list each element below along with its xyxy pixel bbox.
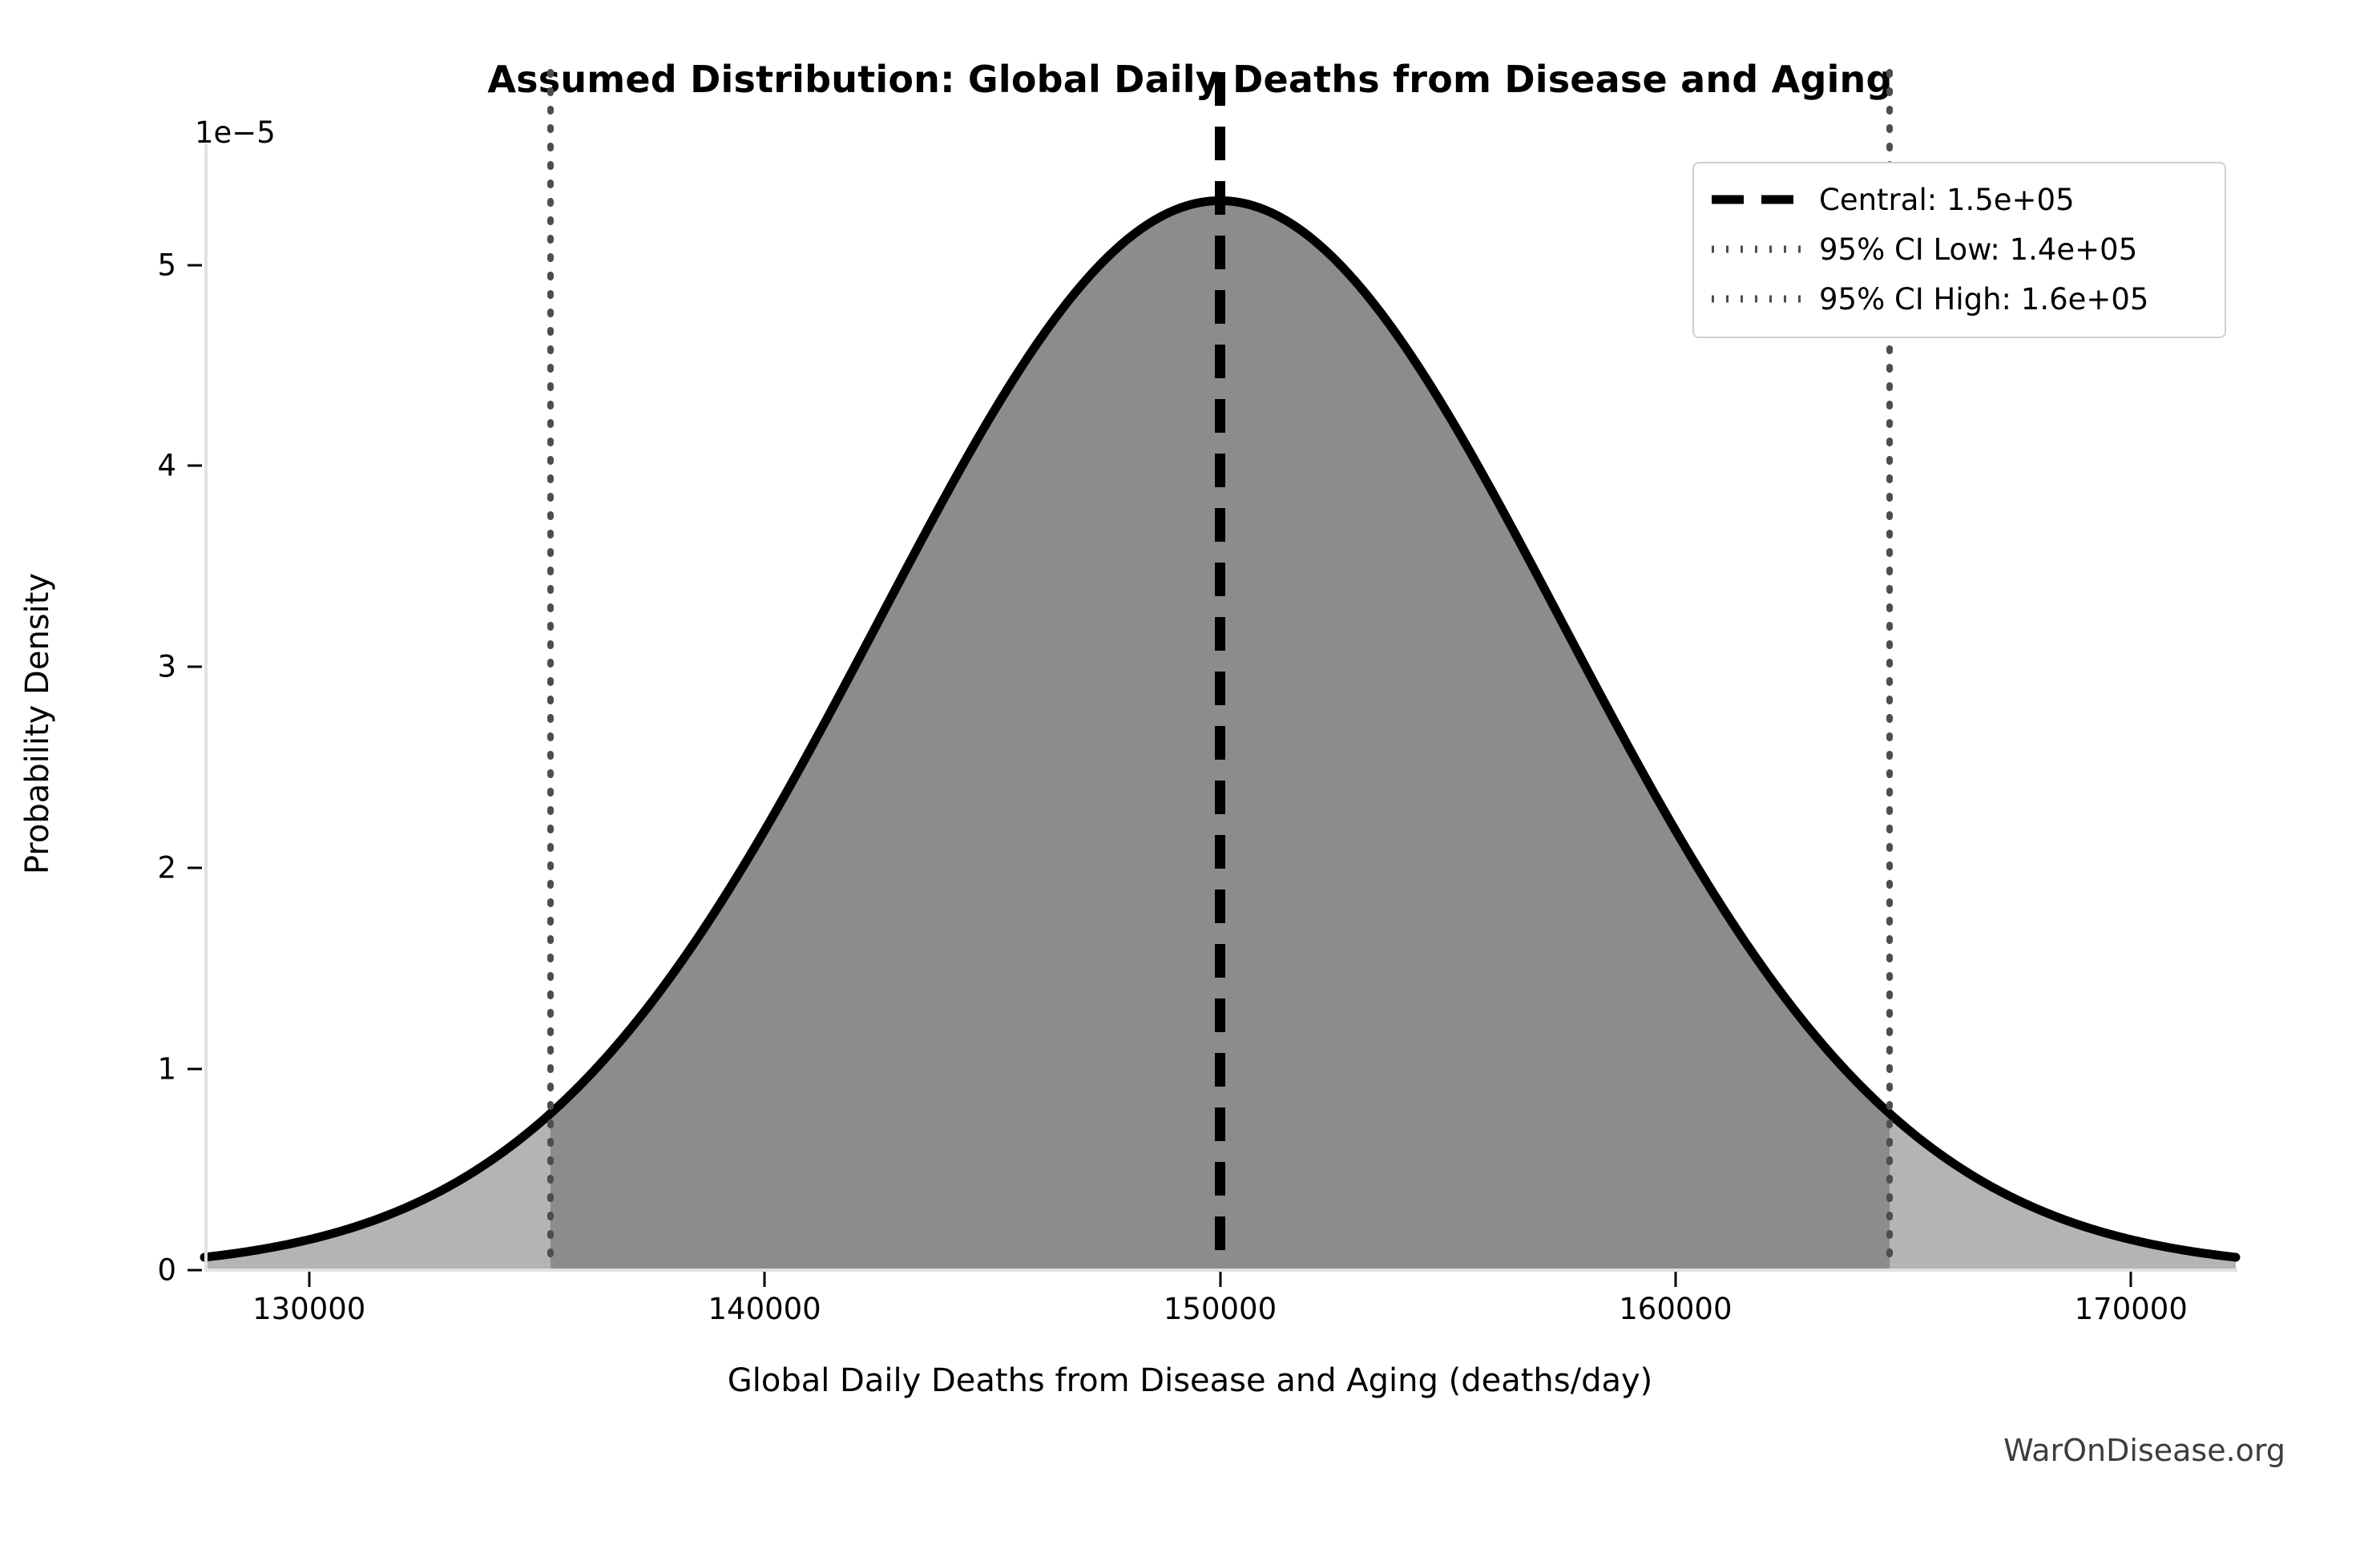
y-tick-label: 2 — [40, 851, 176, 885]
x-tick-label: 170000 — [2075, 1292, 2188, 1326]
y-axis-spine — [204, 144, 208, 1272]
y-tick-mark — [188, 867, 202, 869]
legend-dotted-line-icon — [1708, 237, 1805, 261]
x-axis-title: Global Daily Deaths from Disease and Agi… — [0, 1362, 2380, 1399]
chart-root: Assumed Distribution: Global Daily Death… — [0, 0, 2380, 1545]
y-tick-label: 0 — [40, 1253, 176, 1288]
x-tick-mark — [764, 1272, 766, 1287]
legend-item[interactable]: Central: 1.5e+05 — [1708, 175, 2210, 224]
legend-item[interactable]: 95% CI Low: 1.4e+05 — [1708, 224, 2210, 274]
footer-credit: WarOnDisease.org — [2003, 1433, 2285, 1468]
x-tick-label: 130000 — [252, 1292, 365, 1326]
legend[interactable]: Central: 1.5e+05 95% CI Low: 1.4e+05 95%… — [1692, 162, 2226, 338]
legend-item-label: Central: 1.5e+05 — [1819, 183, 2075, 217]
x-tick-mark — [1674, 1272, 1676, 1287]
y-tick-mark — [188, 666, 202, 668]
y-tick-mark — [188, 465, 202, 467]
x-tick-mark — [308, 1272, 310, 1287]
x-tick-label: 160000 — [1619, 1292, 1732, 1326]
y-tick-mark — [188, 1068, 202, 1071]
legend-dotted-line-icon — [1708, 287, 1805, 311]
x-tick-label: 150000 — [1164, 1292, 1277, 1326]
y-tick-label: 5 — [40, 248, 176, 282]
y-tick-label: 4 — [40, 449, 176, 483]
x-tick-mark — [2130, 1272, 2132, 1287]
y-tick-label: 3 — [40, 650, 176, 684]
legend-item[interactable]: 95% CI High: 1.6e+05 — [1708, 274, 2210, 324]
y-tick-mark — [188, 1269, 202, 1272]
y-tick-label: 1 — [40, 1052, 176, 1087]
legend-item-label: 95% CI Low: 1.4e+05 — [1819, 232, 2137, 267]
page-title: Assumed Distribution: Global Daily Death… — [0, 58, 2380, 101]
y-axis-title: Probability Density — [19, 515, 56, 932]
legend-dashed-line-icon — [1708, 188, 1805, 212]
x-tick-mark — [1219, 1272, 1221, 1287]
x-tick-label: 140000 — [708, 1292, 821, 1326]
legend-item-label: 95% CI High: 1.6e+05 — [1819, 282, 2148, 317]
y-tick-mark — [188, 264, 202, 266]
